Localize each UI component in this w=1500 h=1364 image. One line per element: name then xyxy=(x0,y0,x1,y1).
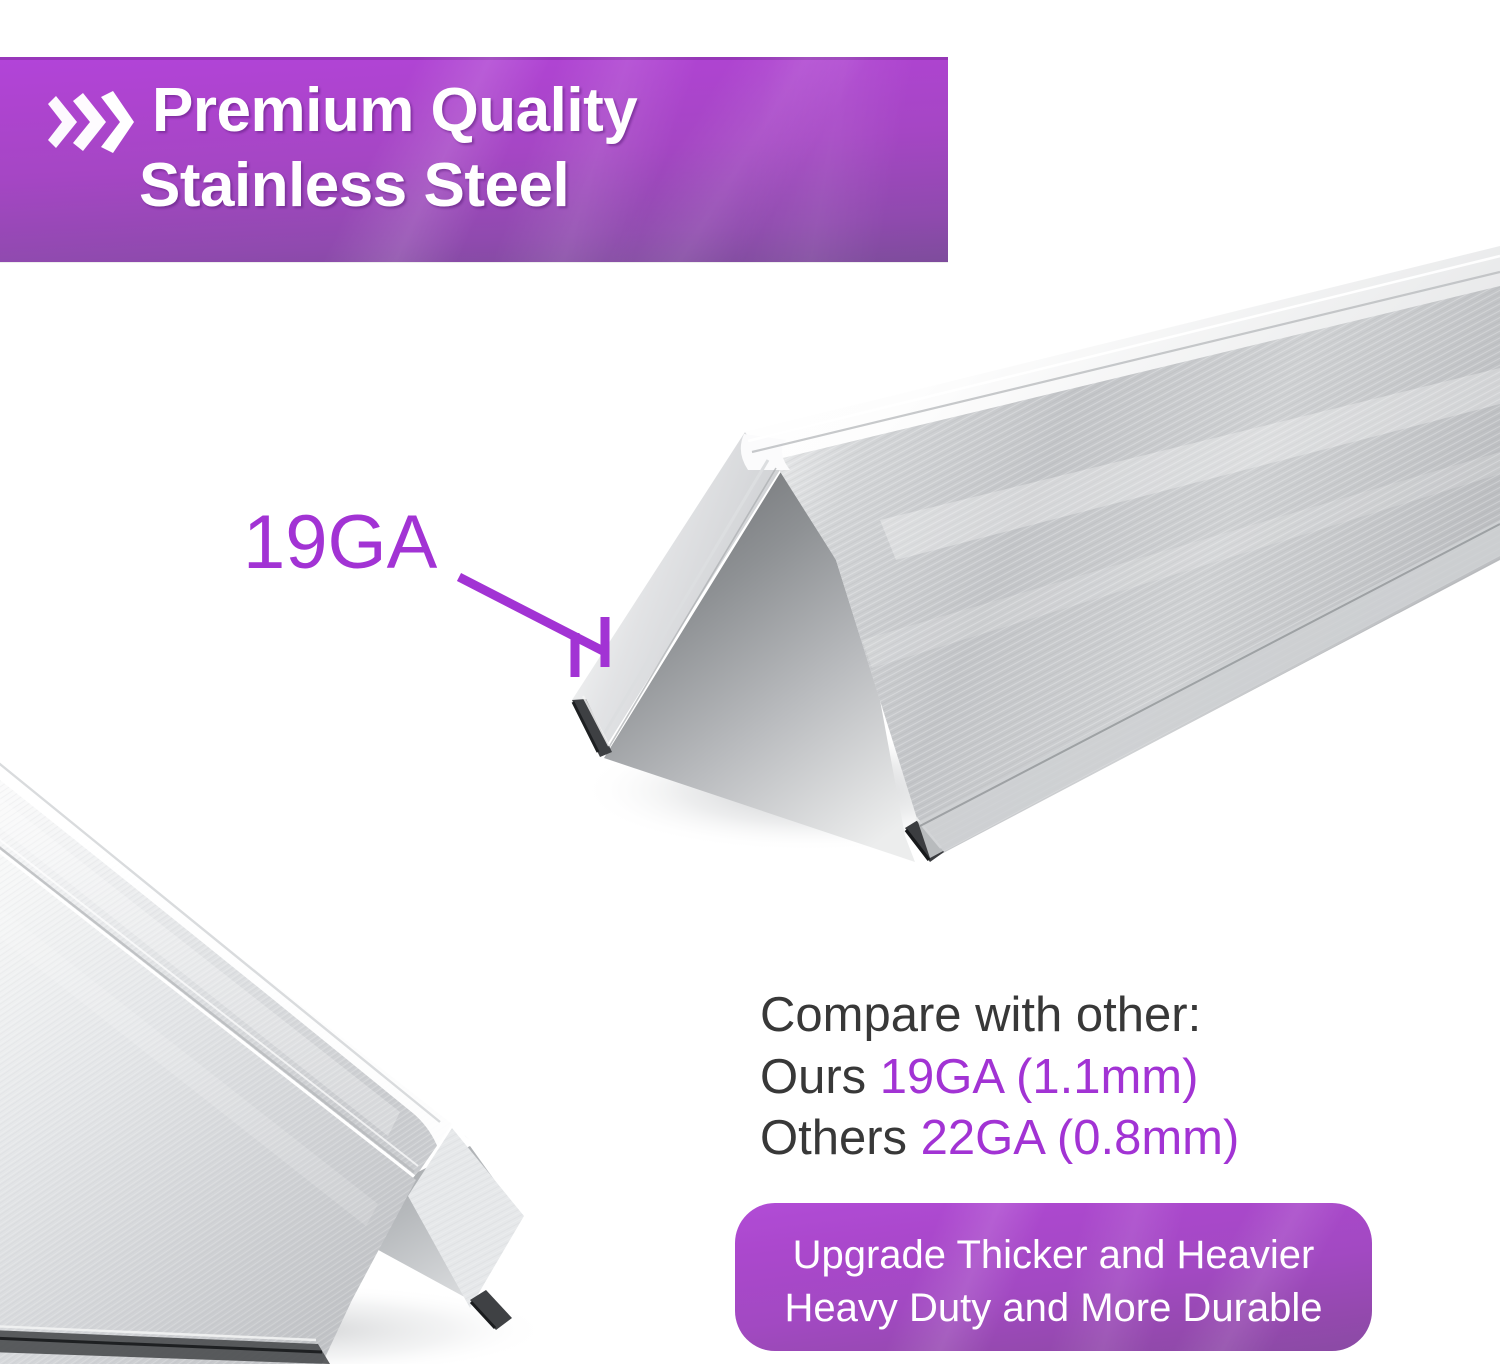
compare-others-row: Others 22GA (0.8mm) xyxy=(760,1108,1380,1170)
main-flavorizer-bar xyxy=(572,246,1500,862)
headline-banner: Premium Quality Stainless Steel xyxy=(0,57,948,262)
compare-others-label: Others xyxy=(760,1111,921,1165)
badge-text: Upgrade Thicker and Heavier Heavy Duty a… xyxy=(735,1203,1372,1335)
upgrade-badge: Upgrade Thicker and Heavier Heavy Duty a… xyxy=(735,1203,1372,1351)
badge-line-1: Upgrade Thicker and Heavier xyxy=(735,1229,1372,1282)
secondary-flavorizer-bar xyxy=(0,742,550,1364)
gauge-callout-label: 19GA xyxy=(243,505,437,581)
triple-chevron-right-icon xyxy=(46,91,134,158)
compare-ours-value: 19GA (1.1mm) xyxy=(880,1050,1199,1104)
compare-ours-row: Ours 19GA (1.1mm) xyxy=(760,1047,1380,1109)
leader-line-with-tick-icon xyxy=(455,555,675,685)
comparison-text-block: Compare with other: Ours 19GA (1.1mm) Ot… xyxy=(760,985,1380,1170)
compare-ours-label: Ours xyxy=(760,1050,880,1104)
compare-others-value: 22GA (0.8mm) xyxy=(921,1111,1240,1165)
banner-top-rule xyxy=(0,57,948,60)
banner-title-line-2: Stainless Steel xyxy=(139,154,938,218)
infographic-canvas: Premium Quality Stainless Steel 19GA Com… xyxy=(0,0,1500,1364)
banner-title-line-1: Premium Quality xyxy=(152,79,637,143)
compare-heading: Compare with other: xyxy=(760,985,1380,1047)
badge-line-2: Heavy Duty and More Durable xyxy=(735,1282,1372,1335)
